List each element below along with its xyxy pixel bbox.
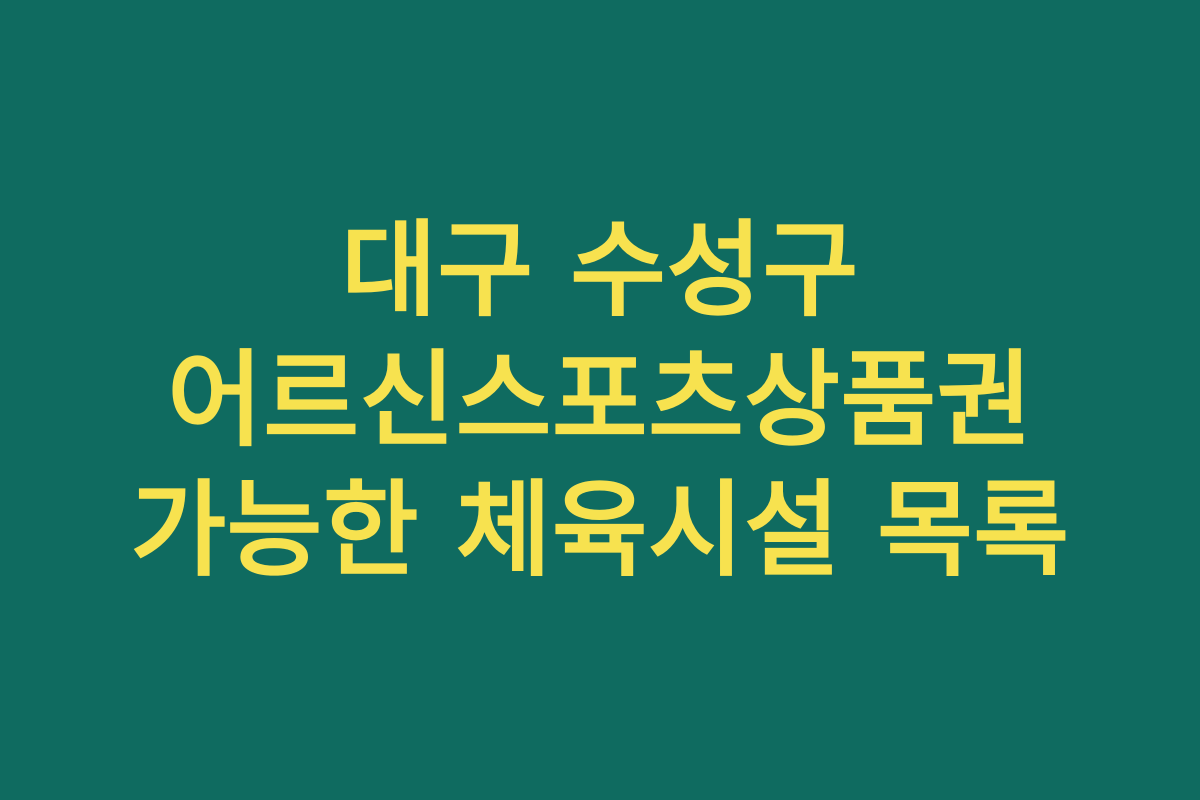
page-title: 대구 수성구 어르신스포츠상품권 가능한 체육시설 목록 xyxy=(105,205,1095,595)
title-block: 대구 수성구 어르신스포츠상품권 가능한 체육시설 목록 xyxy=(95,205,1105,595)
banner-card: 대구 수성구 어르신스포츠상품권 가능한 체육시설 목록 xyxy=(0,0,1200,800)
